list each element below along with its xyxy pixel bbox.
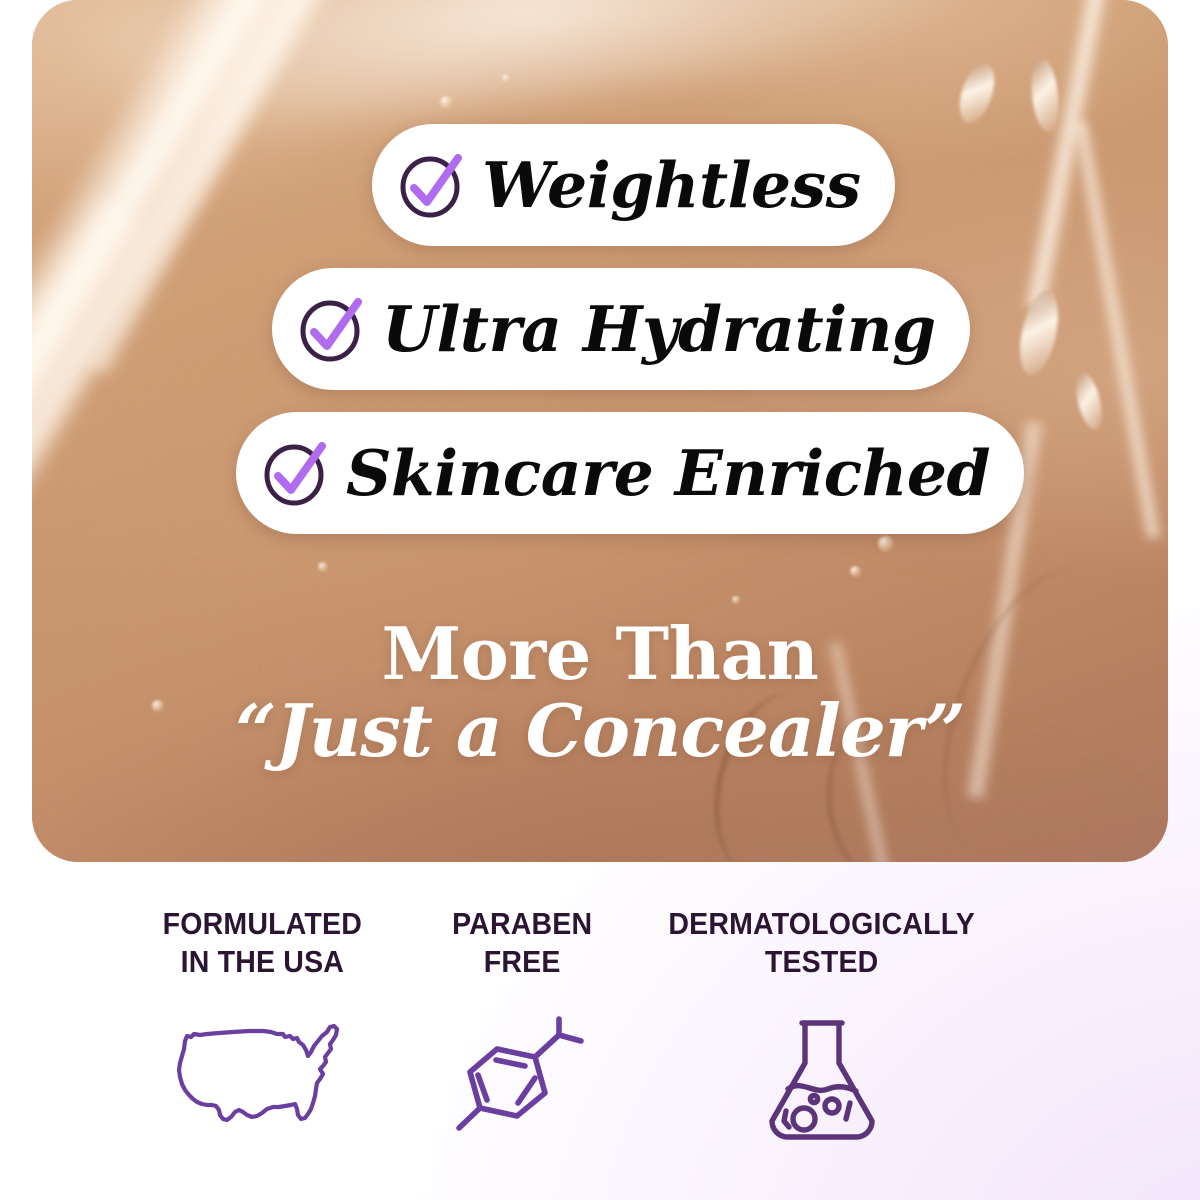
benefit-pill-label: Skincare Enriched: [346, 442, 990, 505]
check-circle-icon: [298, 295, 366, 363]
benefit-pill-ultra-hydrating[interactable]: Ultra Hydrating: [272, 268, 970, 390]
texture-pit: [318, 562, 328, 572]
badge-label: FORMULATED IN THE USA: [162, 905, 361, 981]
product-feature-graphic: Weightless Ultra Hydrating: [0, 0, 1200, 1200]
headline-line-1: More Than: [32, 618, 1168, 690]
check-circle-icon: [262, 439, 330, 507]
texture-pit: [732, 596, 740, 604]
badge-dermatologically-tested: DERMATOLOGICALLY TESTED: [632, 905, 1012, 1185]
usa-map-icon: [167, 1011, 357, 1147]
trust-badge-row: FORMULATED IN THE USA PARABEN FREE: [0, 905, 1200, 1185]
texture-pit: [850, 566, 861, 577]
hero-image: Weightless Ultra Hydrating: [32, 0, 1168, 862]
headline-line-2: “Just a Concealer”: [32, 692, 1168, 770]
benefit-pill-label: Ultra Hydrating: [382, 298, 936, 361]
benefit-pill-label: Weightless: [482, 154, 861, 217]
badge-label: PARABEN FREE: [452, 905, 592, 981]
badge-formulated-in-usa: FORMULATED IN THE USA: [112, 905, 412, 1185]
molecule-icon: [447, 1011, 597, 1147]
hero-headline: More Than “Just a Concealer”: [32, 618, 1168, 770]
check-circle-icon: [398, 151, 466, 219]
benefit-pill-skincare-enriched[interactable]: Skincare Enriched: [236, 412, 1024, 534]
benefit-pill-list: Weightless Ultra Hydrating: [32, 0, 1168, 560]
flask-icon: [758, 1011, 886, 1147]
benefit-pill-weightless[interactable]: Weightless: [372, 124, 895, 246]
badge-label: DERMATOLOGICALLY TESTED: [669, 905, 976, 981]
badge-paraben-free: PARABEN FREE: [412, 905, 632, 1185]
